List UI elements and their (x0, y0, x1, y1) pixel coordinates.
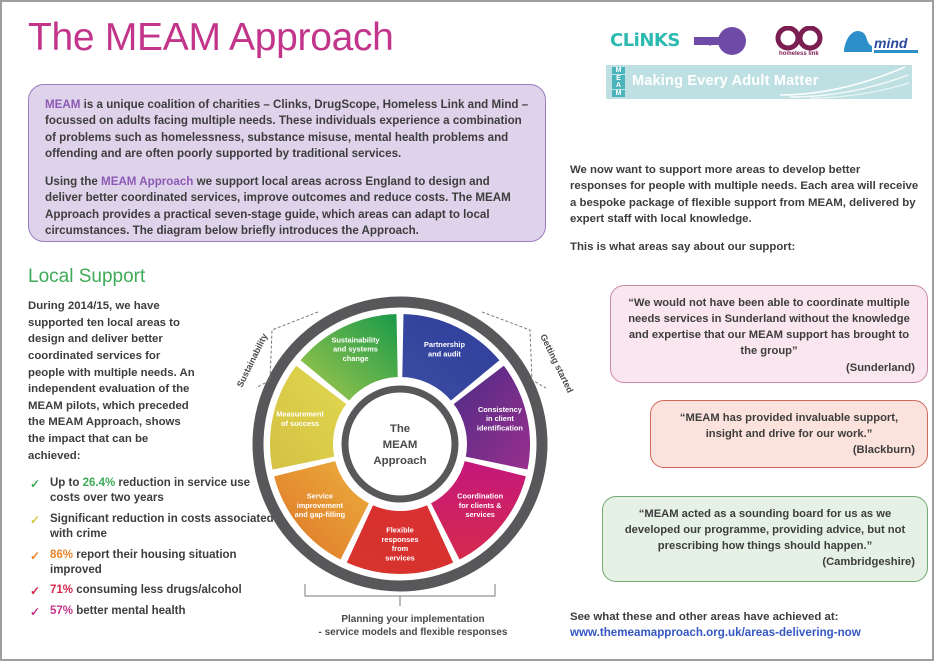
svg-text:from: from (392, 544, 409, 553)
bullet-stat: 57% (50, 605, 73, 617)
meam-keyword: MEAM (45, 98, 80, 111)
local-support-paragraph: During 2014/15, we have supported ten lo… (28, 298, 198, 464)
see-what-text: See what these and other areas have achi… (570, 611, 838, 623)
meam-letter-m2: M (612, 90, 625, 97)
wheel-hub-line-3: Approach (373, 455, 426, 467)
svg-text:identification: identification (477, 423, 523, 432)
check-icon: ✓ (30, 604, 40, 620)
bullet-stat: 71% (50, 584, 73, 596)
svg-text:Flexible: Flexible (386, 526, 414, 535)
meam-approach-wheel: The MEAM Approach Partnershipand auditCo… (200, 284, 600, 624)
wheel-arc-label-left: Sustainability (235, 332, 270, 389)
check-icon: ✓ (30, 583, 40, 599)
meam-banner: M E A M Making Every Adult Matter (606, 65, 912, 99)
svg-text:homeless link: homeless link (779, 51, 819, 57)
intro-paragraph-2: Using the MEAM Approach we support local… (45, 174, 529, 240)
homeless-link-logo: homeless link (770, 26, 830, 58)
svg-text:Drug: Drug (696, 39, 712, 46)
meam-letter-m1: M (612, 67, 625, 74)
intro-box: MEAM is a unique coalition of charities … (28, 84, 546, 242)
quote-blackburn-attribution: (Blackburn) (663, 442, 915, 458)
svg-text:Consistency: Consistency (478, 405, 523, 414)
clinks-logo: CLiNKS (610, 30, 680, 51)
intro-paragraph-1: MEAM is a unique coalition of charities … (45, 97, 529, 163)
svg-text:improvement: improvement (297, 501, 344, 510)
local-support-heading: Local Support (28, 266, 145, 288)
right-column-lead-in: This is what areas say about our support… (570, 241, 920, 253)
bullet-prefix: Up to (50, 477, 83, 489)
bullet-text: better mental health (73, 605, 185, 617)
quote-cambridgeshire: “MEAM acted as a sounding board for us a… (602, 496, 928, 582)
intro-paragraph-1-rest: is a unique coalition of charities – Cli… (45, 98, 528, 160)
wheel-hub-line-2: MEAM (383, 439, 418, 451)
meam-vertical-letters: M E A M (612, 67, 625, 97)
poster-page: The MEAM Approach CLiNKS Drug homeless l… (0, 0, 934, 661)
meam-approach-keyword: MEAM Approach (101, 175, 193, 188)
check-icon: ✓ (30, 476, 40, 492)
quote-sunderland-attribution: (Sunderland) (623, 360, 915, 376)
svg-text:Coordination: Coordination (457, 492, 503, 501)
svg-text:Sustainability: Sustainability (331, 335, 380, 344)
check-icon: ✓ (30, 512, 40, 528)
svg-text:in client: in client (486, 414, 514, 423)
quote-cambridgeshire-text: “MEAM acted as a sounding board for us a… (625, 508, 905, 552)
wheel-bottom-caption: Planning your implementation - service m… (288, 613, 538, 639)
drugscope-logo: Drug (688, 26, 750, 56)
meam-letter-e: E (612, 75, 625, 82)
quote-sunderland: “We would not have been able to coordina… (610, 285, 928, 383)
svg-text:responses: responses (382, 535, 419, 544)
page-title: The MEAM Approach (28, 16, 394, 60)
quote-cambridgeshire-attribution: (Cambridgeshire) (615, 554, 915, 570)
svg-text:and audit: and audit (428, 349, 461, 358)
svg-text:change: change (343, 354, 369, 363)
wheel-bottom-caption-line-2: - service models and flexible responses (288, 626, 538, 639)
bullet-stat: 86% (50, 549, 73, 561)
areas-delivering-now-link[interactable]: www.themeamapproach.org.uk/areas-deliver… (570, 626, 861, 639)
wheel-svg: The MEAM Approach Partnershipand auditCo… (200, 284, 600, 624)
svg-text:Service: Service (307, 492, 333, 501)
svg-text:Measurement: Measurement (276, 410, 324, 419)
check-icon: ✓ (30, 548, 40, 564)
svg-text:services: services (465, 510, 495, 519)
intro-paragraph-2-pre: Using the (45, 175, 101, 188)
svg-text:for clients &: for clients & (459, 501, 502, 510)
quote-sunderland-text: “We would not have been able to coordina… (628, 297, 910, 357)
wheel-segment-label-partnership-and-audit: Partnershipand audit (424, 340, 466, 358)
banner-text: Making Every Adult Matter (632, 73, 819, 89)
svg-text:and gap-filling: and gap-filling (295, 510, 346, 519)
wheel-arc-label-right: Getting started (538, 332, 575, 394)
mind-logo: mind (842, 26, 920, 58)
svg-text:mind: mind (874, 35, 908, 51)
svg-text:of success: of success (281, 419, 319, 428)
right-column-paragraph: We now want to support more areas to dev… (570, 162, 920, 227)
wheel-hub-line-1: The (390, 423, 410, 435)
wheel-bottom-caption-line-1: Planning your implementation (288, 613, 538, 626)
partner-logos: CLiNKS Drug homeless link mind (610, 24, 910, 60)
wheel-segment-label-measurement-of-success: Measurementof success (276, 410, 324, 428)
meam-letter-a: A (612, 82, 625, 89)
bullet-stat: 26.4% (83, 477, 116, 489)
svg-text:services: services (385, 553, 415, 562)
svg-text:and systems: and systems (333, 345, 378, 354)
quote-blackburn: “MEAM has provided invaluable support, i… (650, 400, 928, 468)
quote-blackburn-text: “MEAM has provided invaluable support, i… (680, 412, 898, 440)
svg-text:Partnership: Partnership (424, 340, 466, 349)
